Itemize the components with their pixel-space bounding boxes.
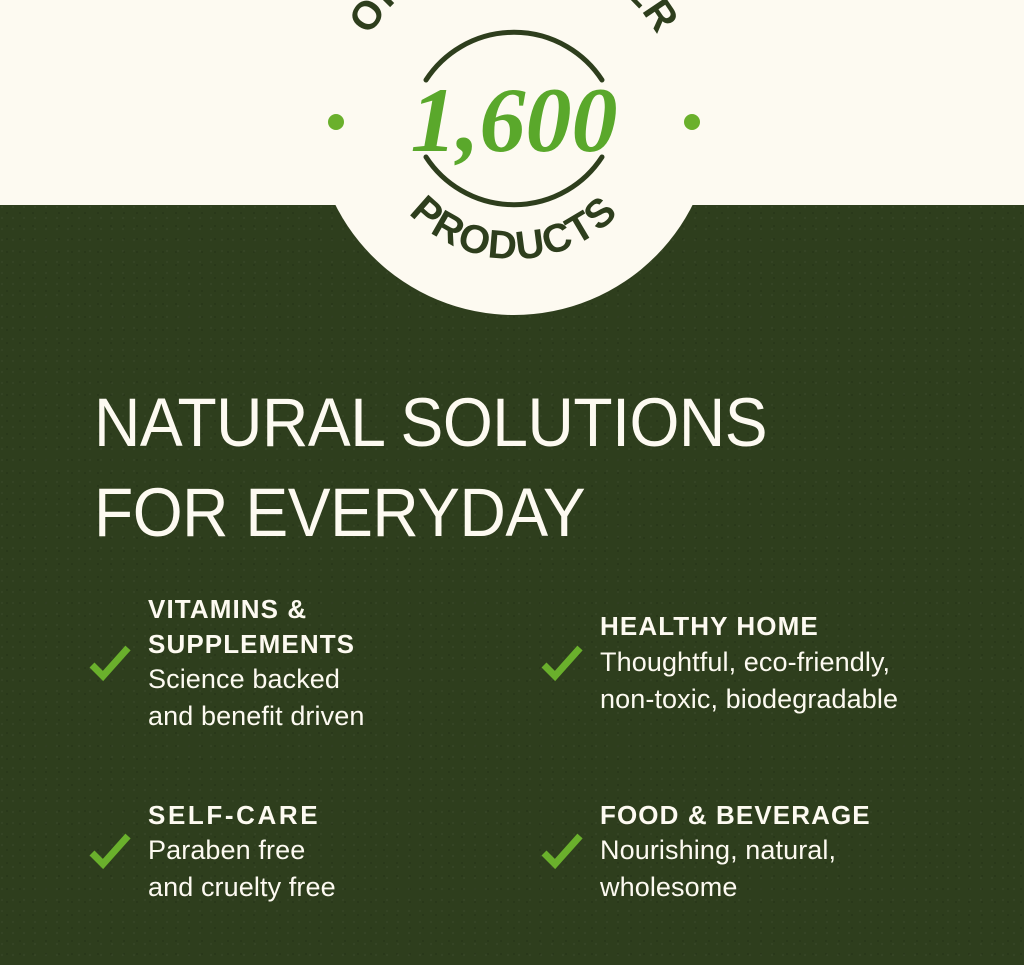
feature-title: VITAMINS & SUPPLEMENTS (148, 592, 364, 661)
checkmark-icon (540, 642, 584, 686)
checkmark-icon (88, 642, 132, 686)
badge-product-count: 1,600 (411, 69, 618, 171)
feature-title: HEALTHY HOME (600, 609, 898, 644)
checkmark-icon (88, 830, 132, 874)
feature-text-block: FOOD & BEVERAGE Nourishing, natural, who… (600, 798, 871, 907)
checkmark-icon (540, 830, 584, 874)
feature-text-block: VITAMINS & SUPPLEMENTS Science backed an… (148, 592, 364, 736)
products-count-badge: OFFERING OVER PRODUCTS 1,600 (314, 0, 714, 315)
feature-description: Thoughtful, eco-friendly, non-toxic, bio… (600, 644, 898, 719)
feature-list: VITAMINS & SUPPLEMENTS Science backed an… (88, 592, 988, 907)
feature-text-block: SELF-CARE Paraben free and cruelty free (148, 798, 336, 907)
promo-banner: OFFERING OVER PRODUCTS 1,600 NATURAL SOL… (0, 0, 1024, 965)
badge-left-dot-icon (328, 114, 344, 130)
feature-description: Nourishing, natural, wholesome (600, 832, 871, 907)
badge-bottom-arc-label: PRODUCTS (402, 187, 626, 268)
badge-graphic: OFFERING OVER PRODUCTS 1,600 (314, 0, 714, 315)
feature-title: SELF-CARE (148, 798, 336, 833)
page-title: NATURAL SOLUTIONS FOR EVERYDAY (94, 378, 912, 559)
feature-item-food-beverage: FOOD & BEVERAGE Nourishing, natural, who… (540, 798, 988, 907)
badge-right-dot-icon (684, 114, 700, 130)
feature-item-self-care: SELF-CARE Paraben free and cruelty free (88, 798, 540, 907)
feature-description: Paraben free and cruelty free (148, 832, 336, 907)
feature-text-block: HEALTHY HOME Thoughtful, eco-friendly, n… (600, 609, 898, 718)
feature-title: FOOD & BEVERAGE (600, 798, 871, 833)
feature-description: Science backed and benefit driven (148, 661, 364, 736)
feature-item-healthy-home: HEALTHY HOME Thoughtful, eco-friendly, n… (540, 592, 988, 736)
feature-item-vitamins-supplements: VITAMINS & SUPPLEMENTS Science backed an… (88, 592, 540, 736)
